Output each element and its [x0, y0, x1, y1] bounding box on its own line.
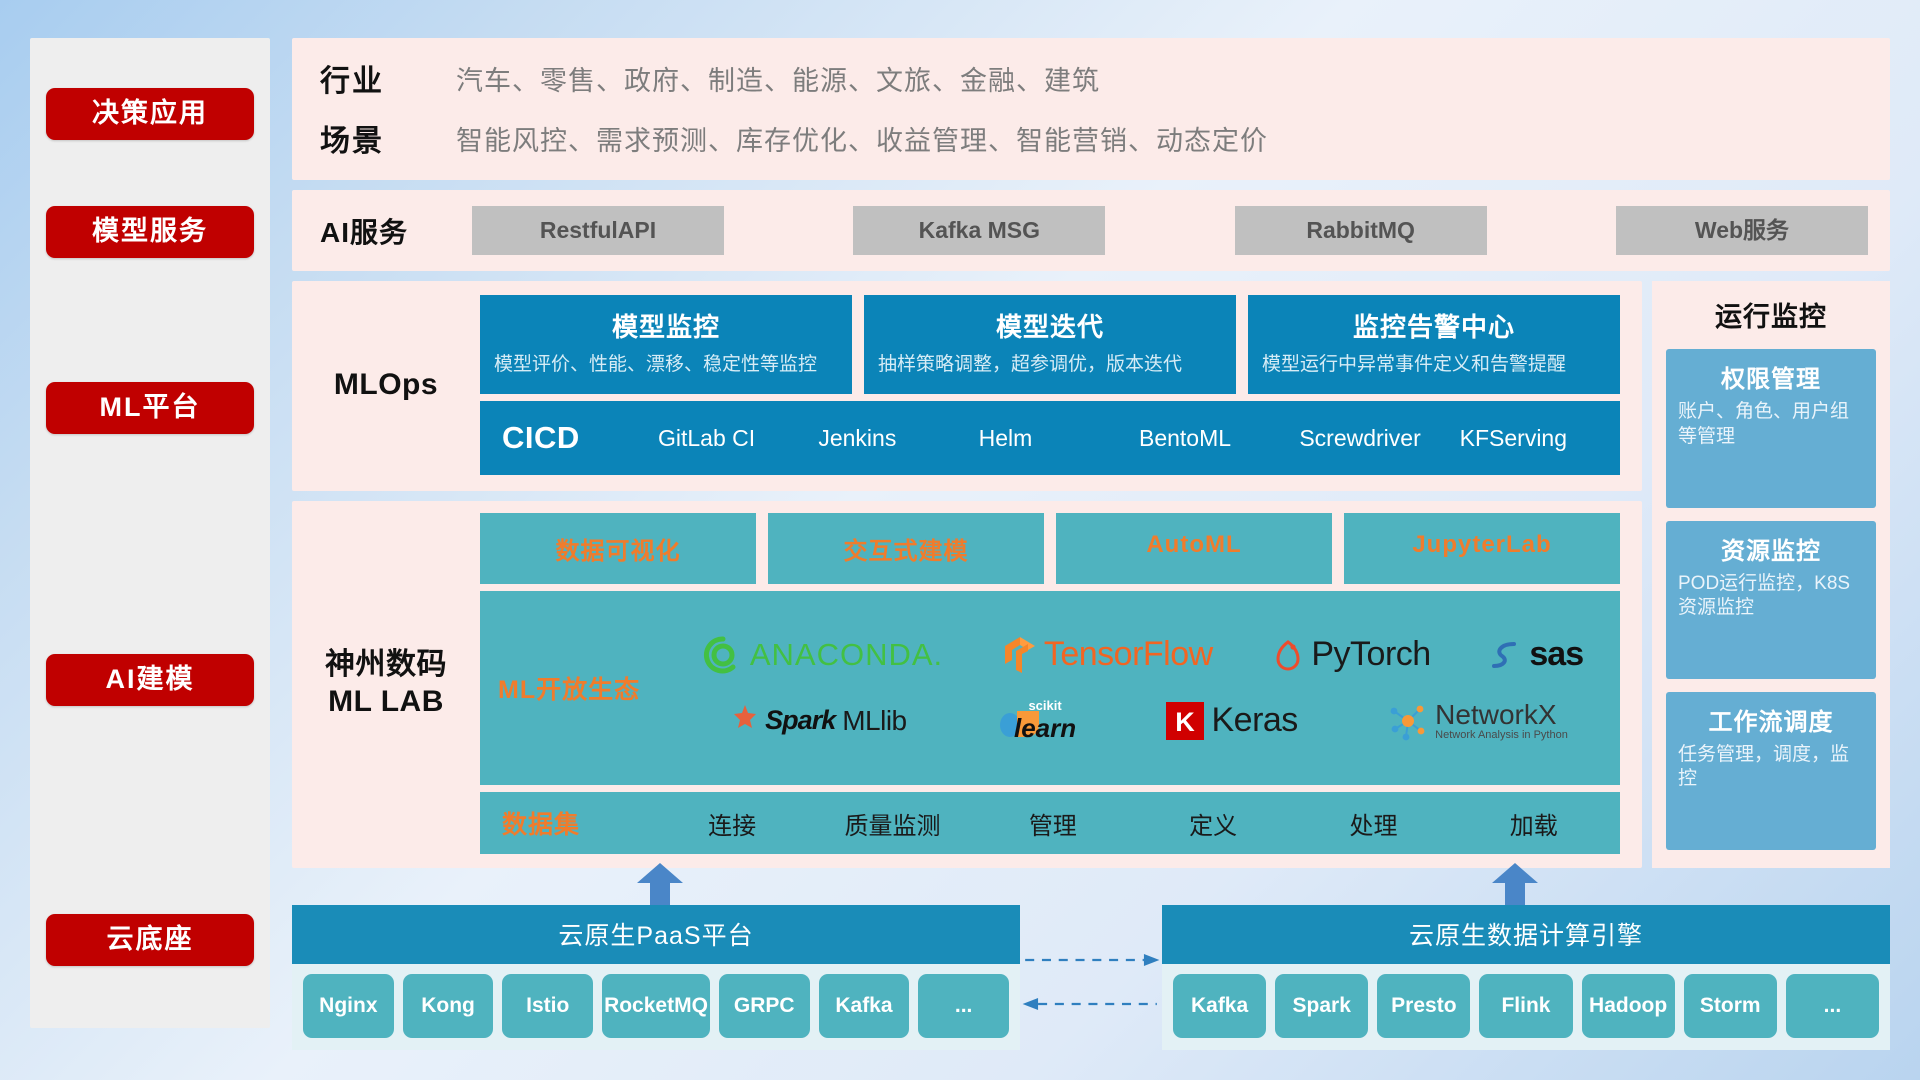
card-desc: 模型运行中异常事件定义和告警提醒	[1262, 352, 1606, 378]
industry-row: 行业 汽车、零售、政府、制造、能源、文旅、金融、建筑	[320, 56, 1870, 100]
paas-chip-nginx[interactable]: Nginx	[303, 974, 394, 1038]
paas-chip-kong[interactable]: Kong	[403, 974, 494, 1038]
paas-chip-istio[interactable]: Istio	[502, 974, 593, 1038]
monitor-card-resource[interactable]: 资源监控 POD运行监控，K8S资源监控	[1666, 521, 1876, 679]
platform-left-stack: MLOps 模型监控 模型评价、性能、漂移、稳定性等监控 模型迭代 抽样策略调整…	[292, 281, 1642, 868]
sas-logo: sas	[1490, 635, 1583, 674]
keras-icon: K	[1166, 702, 1204, 740]
ml-open-ecosystem: ML开放生态 ANACONDA.	[480, 591, 1620, 785]
keras-text: Keras	[1211, 701, 1297, 740]
ai-chip-rabbitmq[interactable]: RabbitMQ	[1235, 206, 1487, 255]
ai-service-band: AI服务 RestfulAPI Kafka MSG RabbitMQ Web服务	[292, 190, 1890, 271]
engine-chips: Kafka Spark Presto Flink Hadoop Storm ..…	[1162, 964, 1890, 1050]
monitor-card-permission[interactable]: 权限管理 账户、角色、用户组等管理	[1666, 349, 1876, 507]
mlops-card-alert-center[interactable]: 监控告警中心 模型运行中异常事件定义和告警提醒	[1248, 295, 1620, 394]
dataset-item-process[interactable]: 处理	[1293, 806, 1453, 841]
scikit-text: scikit	[1028, 698, 1061, 713]
ai-service-items: RestfulAPI Kafka MSG RabbitMQ Web服务	[472, 206, 1868, 255]
tensorflow-text: TensorFlow	[1044, 635, 1213, 674]
layer-label-rail: 决策应用 模型服务 ML平台 AI建模 云底座	[30, 38, 270, 1028]
paas-arrow-wrap	[292, 863, 1020, 905]
cloud-engine-block: 云原生数据计算引擎 Kafka Spark Presto Flink Hadoo…	[1162, 863, 1890, 1050]
scikit-learn-text: scikit learn	[1014, 698, 1076, 744]
scenario-row: 场景 智能风控、需求预测、库存优化、收益管理、智能营销、动态定价	[320, 116, 1870, 160]
sas-icon	[1490, 636, 1522, 674]
ml-lab-label-line1: 神州数码	[325, 646, 447, 684]
mlops-card-model-monitor[interactable]: 模型监控 模型评价、性能、漂移、稳定性等监控	[480, 295, 852, 394]
rail-chip-cloud-base[interactable]: 云底座	[46, 914, 254, 966]
card-title: 模型监控	[494, 307, 838, 344]
networkx-subtitle: Network Analysis in Python	[1435, 729, 1568, 741]
engine-chip-storm[interactable]: Storm	[1684, 974, 1777, 1038]
cicd-item-jenkins[interactable]: Jenkins	[812, 426, 972, 450]
modeling-tool-row: 数据可视化 交互式建模 AutoML JupyterLab	[480, 513, 1620, 584]
industry-values: 汽车、零售、政府、制造、能源、文旅、金融、建筑	[456, 59, 1100, 98]
paas-title: 云原生PaaS平台	[292, 905, 1020, 964]
dataset-items: 连接 质量监测 管理 定义 处理 加载	[652, 806, 1614, 841]
mlops-cards: 模型监控 模型评价、性能、漂移、稳定性等监控 模型迭代 抽样策略调整，超参调优，…	[480, 295, 1620, 394]
tool-chip-data-visualization[interactable]: 数据可视化	[480, 513, 756, 584]
card-desc: POD运行监控，K8S资源监控	[1678, 572, 1864, 621]
cicd-items: GitLab CI Jenkins Helm BentoML Screwdriv…	[652, 426, 1614, 450]
tool-chip-interactive-modeling[interactable]: 交互式建模	[768, 513, 1044, 584]
card-title: 资源监控	[1678, 531, 1864, 566]
monitor-card-workflow[interactable]: 工作流调度 任务管理，调度，监控	[1666, 692, 1876, 850]
scenario-values: 智能风控、需求预测、库存优化、收益管理、智能营销、动态定价	[456, 119, 1268, 158]
cloud-paas-block: 云原生PaaS平台 Nginx Kong Istio RocketMQ GRPC…	[292, 863, 1020, 1050]
cicd-row: CICD GitLab CI Jenkins Helm BentoML Scre…	[480, 401, 1620, 475]
industry-scenario-band: 行业 汽车、零售、政府、制造、能源、文旅、金融、建筑 场景 智能风控、需求预测、…	[292, 38, 1890, 180]
keras-logo: K Keras	[1166, 701, 1297, 740]
engine-chip-kafka[interactable]: Kafka	[1173, 974, 1266, 1038]
pytorch-icon	[1272, 636, 1304, 674]
ai-service-label: AI服务	[320, 211, 448, 251]
engine-chip-hadoop[interactable]: Hadoop	[1582, 974, 1675, 1038]
arrow-up-icon	[637, 863, 683, 905]
anaconda-logo: ANACONDA.	[703, 635, 943, 675]
mlops-card-model-iteration[interactable]: 模型迭代 抽样策略调整，超参调优，版本迭代	[864, 295, 1236, 394]
pytorch-logo: PyTorch	[1272, 635, 1430, 674]
dataset-item-quality[interactable]: 质量监测	[812, 806, 972, 841]
spark-icon	[718, 703, 758, 739]
tool-chip-automl[interactable]: AutoML	[1056, 513, 1332, 584]
dataset-item-load[interactable]: 加载	[1454, 806, 1614, 841]
anaconda-icon	[703, 635, 743, 675]
dataset-row: 数据集 连接 质量监测 管理 定义 处理 加载	[480, 792, 1620, 854]
paas-chip-grpc[interactable]: GRPC	[719, 974, 810, 1038]
arrow-up-icon	[1492, 863, 1538, 905]
card-title: 工作流调度	[1678, 702, 1864, 737]
spark-mllib-logo: Spark MLlib	[718, 703, 906, 739]
anaconda-text: ANACONDA.	[750, 637, 943, 673]
ecosystem-label: ML开放生态	[498, 670, 676, 706]
rail-chip-ml-platform[interactable]: ML平台	[46, 382, 254, 434]
ecosystem-logo-row-1: ANACONDA. Te	[676, 624, 1610, 686]
platform-middle: MLOps 模型监控 模型评价、性能、漂移、稳定性等监控 模型迭代 抽样策略调整…	[292, 281, 1890, 868]
card-desc: 模型评价、性能、漂移、稳定性等监控	[494, 352, 838, 378]
dataset-label: 数据集	[502, 805, 652, 841]
ecosystem-logos: ANACONDA. Te	[676, 624, 1610, 752]
paas-chips: Nginx Kong Istio RocketMQ GRPC Kafka ...	[292, 964, 1020, 1050]
engine-chip-flink[interactable]: Flink	[1479, 974, 1572, 1038]
networkx-name: NetworkX	[1435, 701, 1568, 729]
svg-text:K: K	[1176, 707, 1196, 737]
networkx-icon	[1388, 701, 1428, 741]
tensorflow-logo: TensorFlow	[1003, 635, 1213, 675]
monitoring-title: 运行监控	[1666, 295, 1876, 334]
dataset-item-define[interactable]: 定义	[1133, 806, 1293, 841]
mllib-text: MLlib	[842, 705, 906, 737]
sas-text: sas	[1529, 635, 1583, 674]
engine-title: 云原生数据计算引擎	[1162, 905, 1890, 964]
learn-text: learn	[1014, 713, 1076, 744]
dataset-item-manage[interactable]: 管理	[973, 806, 1133, 841]
engine-chip-spark[interactable]: Spark	[1275, 974, 1368, 1038]
rail-chip-model-service[interactable]: 模型服务	[46, 206, 254, 258]
cicd-item-kfserving[interactable]: KFServing	[1454, 426, 1614, 450]
mlops-body: 模型监控 模型评价、性能、漂移、稳定性等监控 模型迭代 抽样策略调整，超参调优，…	[480, 295, 1620, 475]
card-desc: 账户、角色、用户组等管理	[1678, 400, 1864, 449]
card-desc: 抽样策略调整，超参调优，版本迭代	[878, 352, 1222, 378]
tensorflow-icon	[1003, 635, 1037, 675]
cloud-foundation-row: 云原生PaaS平台 Nginx Kong Istio RocketMQ GRPC…	[292, 882, 1890, 1050]
engine-arrow-wrap	[1162, 863, 1890, 905]
engine-chip-more[interactable]: ...	[1786, 974, 1879, 1038]
industry-label: 行业	[320, 56, 456, 100]
pytorch-text: PyTorch	[1311, 635, 1430, 674]
networkx-text: NetworkX Network Analysis in Python	[1435, 701, 1568, 741]
scikit-learn-logo: scikit learn	[997, 698, 1076, 744]
rail-chip-decision[interactable]: 决策应用	[46, 88, 254, 140]
cicd-item-gitlab-ci[interactable]: GitLab CI	[652, 426, 812, 450]
modeling-body: 数据可视化 交互式建模 AutoML JupyterLab ML开放生态	[480, 513, 1620, 854]
ai-modeling-section: 神州数码 ML LAB 数据可视化 交互式建模 AutoML JupyterLa…	[292, 501, 1642, 868]
runtime-monitoring-panel: 运行监控 权限管理 账户、角色、用户组等管理 资源监控 POD运行监控，K8S资…	[1652, 281, 1890, 868]
card-title: 模型迭代	[878, 307, 1222, 344]
engine-chip-presto[interactable]: Presto	[1377, 974, 1470, 1038]
networkx-logo: NetworkX Network Analysis in Python	[1388, 701, 1568, 741]
main-column: 行业 汽车、零售、政府、制造、能源、文旅、金融、建筑 场景 智能风控、需求预测、…	[292, 38, 1890, 1050]
ai-chip-kafka-msg[interactable]: Kafka MSG	[853, 206, 1105, 255]
ml-lab-label: 神州数码 ML LAB	[292, 513, 480, 854]
ml-lab-label-line2: ML LAB	[325, 683, 447, 721]
card-title: 权限管理	[1678, 359, 1864, 394]
card-desc: 任务管理，调度，监控	[1678, 743, 1864, 792]
diagram-root: 决策应用 模型服务 ML平台 AI建模 云底座 行业 汽车、零售、政府、制造、能…	[0, 0, 1920, 1080]
paas-chip-more[interactable]: ...	[918, 974, 1009, 1038]
cicd-item-bentoml[interactable]: BentoML	[1133, 426, 1293, 450]
spark-text: Spark	[765, 705, 835, 736]
tool-chip-jupyterlab[interactable]: JupyterLab	[1344, 513, 1620, 584]
paas-chip-kafka[interactable]: Kafka	[819, 974, 910, 1038]
ecosystem-logo-row-2: Spark MLlib	[676, 690, 1610, 752]
scenario-label: 场景	[320, 116, 456, 160]
dashed-connector-icon	[1020, 882, 1162, 1050]
mlops-section: MLOps 模型监控 模型评价、性能、漂移、稳定性等监控 模型迭代 抽样策略调整…	[292, 281, 1642, 491]
rail-chip-ai-modeling[interactable]: AI建模	[46, 654, 254, 706]
ai-chip-restfulapi[interactable]: RestfulAPI	[472, 206, 724, 255]
ai-chip-web-service[interactable]: Web服务	[1616, 206, 1868, 255]
cicd-item-helm[interactable]: Helm	[973, 426, 1133, 450]
paas-chip-rocketmq[interactable]: RocketMQ	[602, 974, 710, 1038]
mlops-label: MLOps	[292, 295, 480, 475]
cicd-item-screwdriver[interactable]: Screwdriver	[1293, 426, 1453, 450]
card-title: 监控告警中心	[1262, 307, 1606, 344]
cicd-label: CICD	[502, 420, 652, 456]
dataset-item-connect[interactable]: 连接	[652, 806, 812, 841]
